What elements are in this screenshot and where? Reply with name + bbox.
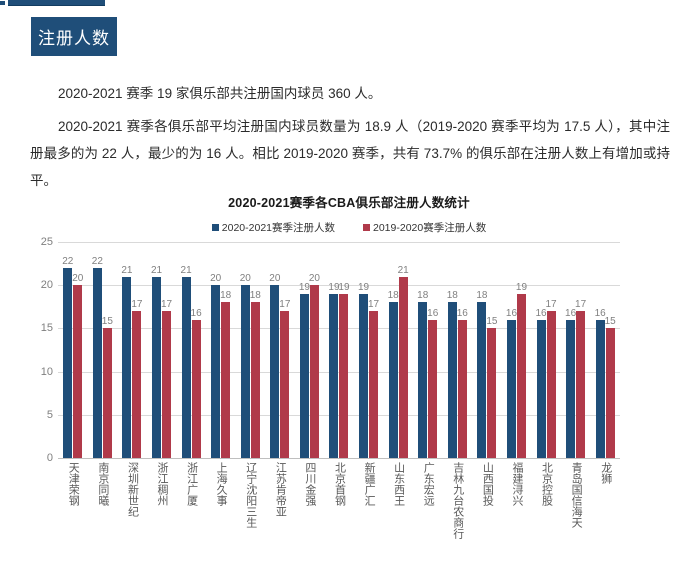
bar-group: 2017	[265, 242, 295, 458]
x-axis-label: 辽宁沈阳三生	[235, 462, 265, 566]
bar-value-label: 15	[486, 316, 497, 328]
y-axis-tick: 10	[27, 366, 53, 378]
bar-series-1: 22	[63, 268, 72, 458]
bar-series-1: 16	[537, 320, 546, 458]
bar-series-2: 17	[162, 311, 171, 458]
top-rule-line	[8, 0, 105, 6]
bar-group: 2018	[235, 242, 265, 458]
bar-series-2: 17	[369, 311, 378, 458]
bar-group: 2117	[147, 242, 177, 458]
bar-group: 1617	[561, 242, 591, 458]
bar-value-label: 18	[447, 290, 458, 302]
bar-value-label: 18	[220, 290, 231, 302]
bar-value-label: 19	[338, 282, 349, 294]
bar-value-label: 21	[121, 265, 132, 277]
x-axis-label: 江苏肯帝亚	[265, 462, 295, 566]
bar-value-label: 19	[358, 282, 369, 294]
top-rule-dot	[0, 1, 5, 5]
chart-block: 2020-2021赛季各CBA俱乐部注册人数统计 2020-2021赛季注册人数…	[0, 190, 698, 566]
bar-groups: 2220221521172117211620182018201719201919…	[58, 242, 620, 458]
bar-group: 1917	[354, 242, 384, 458]
bar-group: 2018	[206, 242, 236, 458]
legend-swatch-series-1	[212, 224, 219, 231]
bar-series-1: 20	[241, 285, 250, 458]
top-decorative-rule	[0, 0, 120, 6]
bar-series-2: 17	[547, 311, 556, 458]
bar-series-2: 18	[251, 302, 260, 458]
bar-series-2: 19	[517, 294, 526, 458]
bar-series-1: 18	[477, 302, 486, 458]
x-axis-label: 山西国投	[472, 462, 502, 566]
x-axis-label: 南京同曦	[88, 462, 118, 566]
bar-value-label: 21	[181, 265, 192, 277]
chart-title: 2020-2021赛季各CBA俱乐部注册人数统计	[0, 190, 698, 211]
legend-label-series-1: 2020-2021赛季注册人数	[222, 220, 335, 235]
bar-group: 1619	[502, 242, 532, 458]
x-axis-label: 山东西王	[383, 462, 413, 566]
bar-value-label: 18	[250, 290, 261, 302]
bar-value-label: 20	[240, 273, 251, 285]
bar-series-2: 17	[280, 311, 289, 458]
plot-area: 2520151050 22202215211721172116201820182…	[0, 242, 698, 566]
bar-series-2: 16	[192, 320, 201, 458]
x-axis-label: 北京控股	[531, 462, 561, 566]
bar-series-1: 19	[329, 294, 338, 458]
bar-value-label: 17	[545, 299, 556, 311]
bar-value-label: 15	[605, 316, 616, 328]
bar-value-label: 16	[506, 308, 517, 320]
legend-item-series-2: 2019-2020赛季注册人数	[363, 220, 486, 235]
bar-group: 1816	[443, 242, 473, 458]
bar-value-label: 18	[388, 290, 399, 302]
bar-series-1: 18	[448, 302, 457, 458]
bar-value-label: 22	[62, 256, 73, 268]
y-axis-tick: 15	[27, 322, 53, 334]
bar-series-2: 15	[103, 328, 112, 458]
bar-value-label: 21	[151, 265, 162, 277]
y-axis-tick: 5	[27, 409, 53, 421]
bar-value-label: 20	[269, 273, 280, 285]
bar-value-label: 20	[309, 273, 320, 285]
bar-group: 1920	[295, 242, 325, 458]
bar-series-1: 21	[122, 277, 131, 458]
bar-series-2: 16	[458, 320, 467, 458]
bar-series-2: 15	[487, 328, 496, 458]
bar-value-label: 17	[161, 299, 172, 311]
legend-swatch-series-2	[363, 224, 370, 231]
y-axis-tick: 20	[27, 279, 53, 291]
x-axis-label: 深圳新世纪	[117, 462, 147, 566]
bar-value-label: 16	[427, 308, 438, 320]
bar-group: 1816	[413, 242, 443, 458]
y-axis: 2520151050	[27, 242, 53, 458]
bar-value-label: 22	[92, 256, 103, 268]
bar-series-2: 18	[221, 302, 230, 458]
bar-value-label: 18	[476, 290, 487, 302]
bar-group: 1919	[324, 242, 354, 458]
y-axis-tick: 25	[27, 236, 53, 248]
y-axis-tick: 0	[27, 452, 53, 464]
bar-value-label: 20	[72, 273, 83, 285]
bar-value-label: 16	[191, 308, 202, 320]
bar-series-2: 15	[606, 328, 615, 458]
section-badge: 注册人数	[31, 17, 117, 56]
bar-group: 2116	[176, 242, 206, 458]
bar-group: 1815	[472, 242, 502, 458]
x-axis-label: 天津荣钢	[58, 462, 88, 566]
bar-series-1: 19	[300, 294, 309, 458]
bar-group: 1821	[383, 242, 413, 458]
bar-value-label: 21	[398, 265, 409, 277]
bar-series-1: 22	[93, 268, 102, 458]
x-axis-label: 新疆广汇	[354, 462, 384, 566]
bar-series-1: 19	[359, 294, 368, 458]
x-axis-label: 上海久事	[206, 462, 236, 566]
bar-value-label: 17	[575, 299, 586, 311]
bar-group: 1615	[590, 242, 620, 458]
bar-series-1: 16	[596, 320, 605, 458]
bar-series-2: 16	[428, 320, 437, 458]
grid-line	[58, 458, 620, 459]
legend-item-series-1: 2020-2021赛季注册人数	[212, 220, 335, 235]
bar-value-label: 20	[210, 273, 221, 285]
x-axis-label: 北京首钢	[324, 462, 354, 566]
bar-value-label: 17	[368, 299, 379, 311]
x-axis-label: 广东宏远	[413, 462, 443, 566]
x-axis-label: 福建浔兴	[502, 462, 532, 566]
bar-series-1: 18	[418, 302, 427, 458]
x-axis-label: 吉林九台农商行	[443, 462, 473, 566]
x-axis-labels: 天津荣钢南京同曦深圳新世纪浙江稠州浙江广厦上海久事辽宁沈阳三生江苏肯帝亚四川金强…	[58, 462, 620, 566]
bar-group: 2117	[117, 242, 147, 458]
bar-group: 2220	[58, 242, 88, 458]
legend-label-series-2: 2019-2020赛季注册人数	[373, 220, 486, 235]
bar-series-2: 20	[73, 285, 82, 458]
x-axis-label: 青岛国信海天	[561, 462, 591, 566]
bar-value-label: 17	[131, 299, 142, 311]
bar-value-label: 17	[279, 299, 290, 311]
bar-series-2: 20	[310, 285, 319, 458]
bar-series-2: 21	[399, 277, 408, 458]
bar-series-2: 19	[339, 294, 348, 458]
paragraph-2: 2020-2021 赛季各俱乐部平均注册国内球员数量为 18.9 人（2019-…	[30, 113, 670, 194]
x-axis-label: 龙狮	[590, 462, 620, 566]
bar-value-label: 19	[516, 282, 527, 294]
bar-group: 1617	[531, 242, 561, 458]
x-axis-label: 浙江广厦	[176, 462, 206, 566]
bar-series-1: 21	[182, 277, 191, 458]
x-axis-label: 浙江稠州	[147, 462, 177, 566]
bar-series-1: 18	[389, 302, 398, 458]
bar-series-1: 20	[270, 285, 279, 458]
x-axis-label: 四川金强	[295, 462, 325, 566]
bar-series-1: 20	[211, 285, 220, 458]
bar-series-1: 21	[152, 277, 161, 458]
bar-series-2: 17	[132, 311, 141, 458]
body-text: 2020-2021 赛季 19 家俱乐部共注册国内球员 360 人。 2020-…	[30, 80, 670, 200]
chart-legend: 2020-2021赛季注册人数 2019-2020赛季注册人数	[0, 220, 698, 235]
bar-group: 2215	[88, 242, 118, 458]
paragraph-1: 2020-2021 赛季 19 家俱乐部共注册国内球员 360 人。	[30, 80, 670, 107]
bar-value-label: 16	[457, 308, 468, 320]
bar-series-1: 16	[566, 320, 575, 458]
bar-value-label: 15	[102, 316, 113, 328]
bar-series-1: 16	[507, 320, 516, 458]
bar-series-2: 17	[576, 311, 585, 458]
bar-value-label: 18	[417, 290, 428, 302]
